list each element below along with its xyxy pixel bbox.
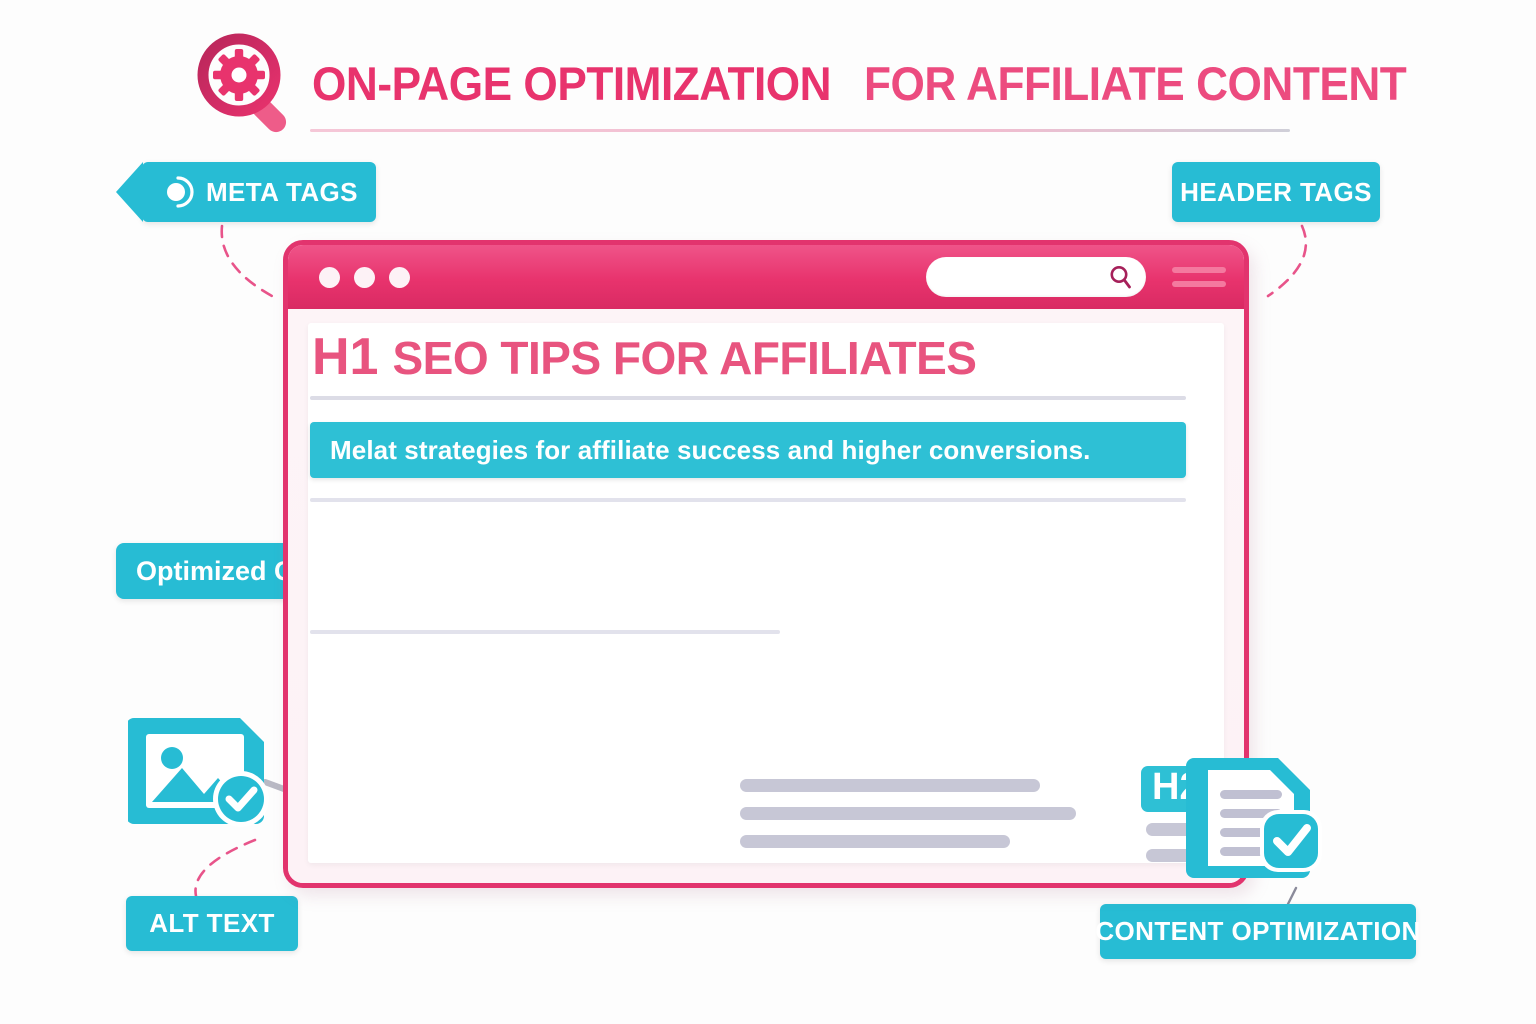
callout-alt-text-label: ALT TEXT [149, 908, 274, 939]
page-title-strong: ON-PAGE OPTIMIZATION [312, 56, 831, 111]
callout-content-optimization[interactable]: CONTENT OPTIMIZATION [1100, 904, 1416, 959]
document-check-icon [1182, 752, 1332, 887]
callout-meta-tags-label: META TAGS [206, 177, 358, 208]
hamburger-line [1172, 281, 1226, 287]
magnifier-gear-icon [196, 32, 300, 136]
page-title-light: FOR AFFILIATE CONTENT [864, 56, 1406, 111]
window-dot-minimize[interactable] [354, 267, 375, 288]
meta-description-banner: Melat strategies for affiliate success a… [310, 422, 1186, 478]
image-check-icon [128, 710, 278, 835]
page-header: ON-PAGE OPTIMIZATION FOR AFFILIATE CONTE… [196, 26, 1306, 134]
h1-heading: H1 SEO TIPS FOR AFFILIATES [312, 331, 976, 383]
page-title: ON-PAGE OPTIMIZATION FOR AFFILIATE CONTE… [312, 56, 1441, 111]
hamburger-menu-icon[interactable] [1172, 267, 1226, 289]
content-divider [310, 630, 780, 634]
callout-header-tags-label: HEADER TAGS [1180, 177, 1372, 208]
h1-text: SEO TIPS FOR AFFILIATES [392, 335, 976, 381]
browser-titlebar [288, 245, 1244, 309]
window-dot-close[interactable] [319, 267, 340, 288]
callout-alt-text[interactable]: ALT TEXT [126, 896, 298, 951]
content-line [740, 835, 1010, 848]
circle-dot-icon [162, 176, 194, 208]
content-line [740, 807, 1076, 820]
search-input[interactable] [926, 257, 1146, 297]
search-icon[interactable] [1108, 264, 1134, 290]
h1-badge: H1 [312, 331, 378, 383]
callout-meta-tags[interactable]: META TAGS [142, 162, 376, 222]
content-line [740, 779, 1040, 792]
content-divider [310, 498, 1186, 502]
browser-window: H1 SEO TIPS FOR AFFILIATES Melat strateg… [283, 240, 1249, 888]
header-underline [310, 129, 1290, 132]
h1-underline [310, 396, 1186, 400]
callout-header-tags[interactable]: HEADER TAGS [1172, 162, 1380, 222]
callout-content-optimization-label: CONTENT OPTIMIZATION [1095, 916, 1420, 947]
window-dot-maximize[interactable] [389, 267, 410, 288]
hamburger-line [1172, 267, 1226, 273]
meta-description-text: Melat strategies for affiliate success a… [330, 435, 1090, 466]
h3-text: Subheading [1228, 887, 1249, 888]
